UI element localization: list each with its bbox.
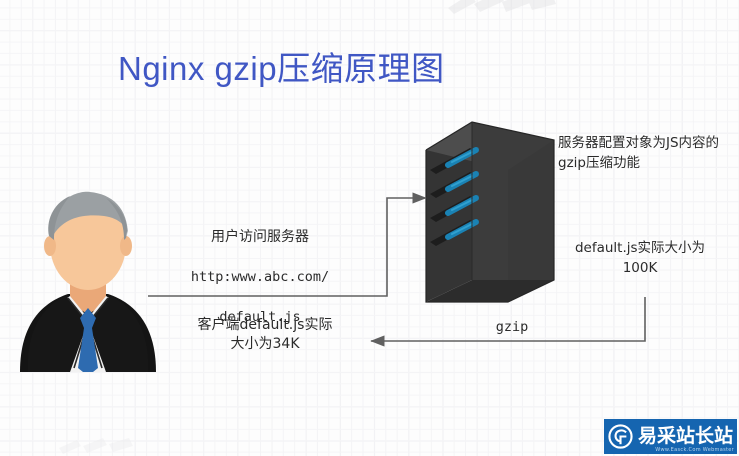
brand-subtext: Www.Easck.Com Webmaster	[655, 447, 734, 453]
brand-logo-icon	[608, 424, 633, 449]
page-title: Nginx gzip压缩原理图	[118, 42, 445, 90]
site-watermark-badge: 易采站长站 Www.Easck.Com Webmaster	[604, 419, 737, 454]
brand-name: 易采站长站	[638, 427, 733, 446]
client-size-label: 客户端default.js实际 大小为34K	[150, 316, 380, 354]
gzip-label: gzip	[452, 318, 572, 336]
server-file-size-label: default.js实际大小为 100K	[540, 238, 739, 279]
watermark-bottom-icon	[55, 434, 175, 456]
diagram-canvas: Nginx gzip压缩原理图	[0, 0, 739, 456]
request-label-line2: http:www.abc.com/	[140, 268, 380, 286]
server-config-label: 服务器配置对象为JS内容的gzip压缩功能	[558, 133, 734, 174]
request-label-line1: 用户访问服务器	[140, 228, 380, 247]
watermark-top-icon	[440, 0, 590, 32]
